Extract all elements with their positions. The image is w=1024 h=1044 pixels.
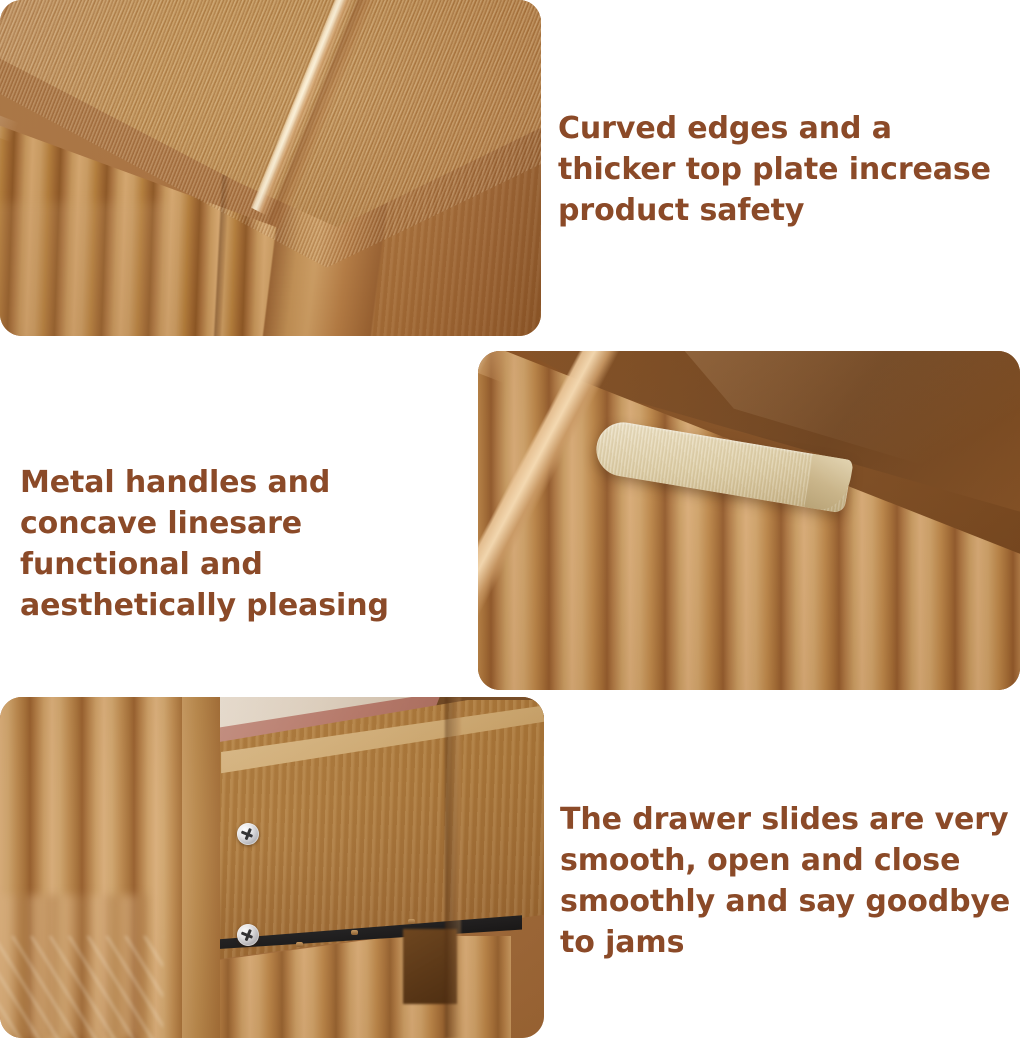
open-drawer-slides-photo <box>0 697 544 1038</box>
feature-text-curved-edges: Curved edges and a thicker top plate inc… <box>558 108 1014 231</box>
feature-text-metal-handles: Metal handles and concave linesare funct… <box>20 462 472 626</box>
drawer-handle-photo <box>478 351 1020 690</box>
feature-text-drawer-slides: The drawer slides are very smooth, open … <box>560 799 1016 963</box>
photo-vignette <box>478 351 1020 690</box>
infographic-page: Curved edges and a thicker top plate inc… <box>0 0 1024 1044</box>
photo-vignette <box>0 697 544 1038</box>
nightstand-corner-photo <box>0 0 541 336</box>
photo-vignette <box>0 0 541 336</box>
